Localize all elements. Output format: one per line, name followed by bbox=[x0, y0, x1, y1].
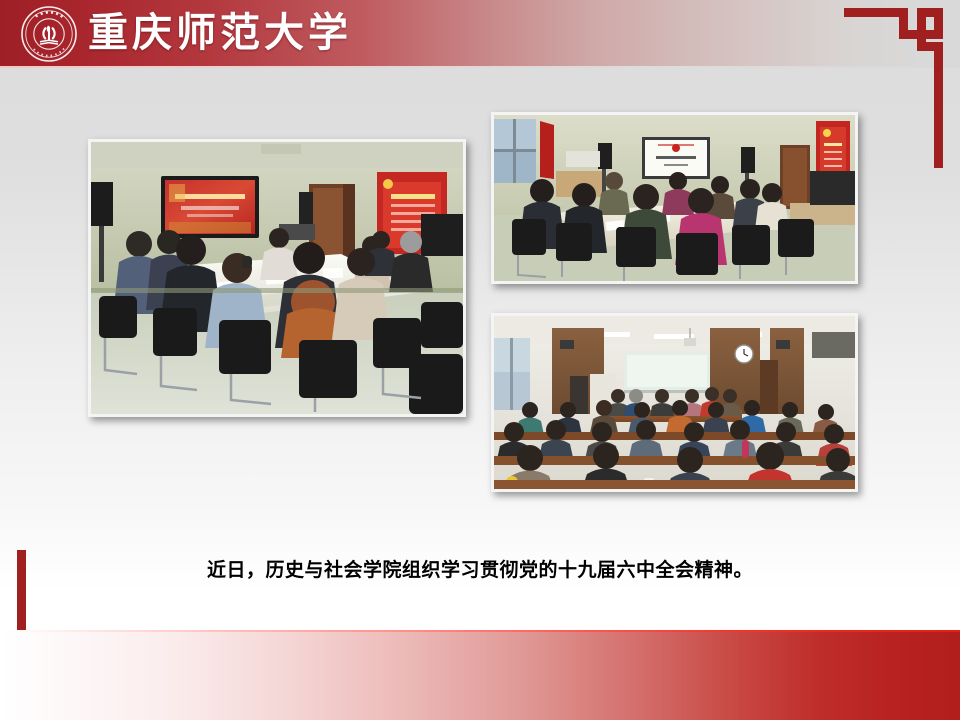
caption-area: 近日，历史与社会学院组织学习贯彻党的十九届六中全会精神。 bbox=[0, 548, 960, 592]
photo-content bbox=[91, 142, 463, 414]
university-name: 重庆师范大学 bbox=[88, 4, 352, 62]
photo-meeting-room-1[interactable] bbox=[88, 139, 466, 417]
university-seal-icon bbox=[21, 6, 77, 62]
photo-content bbox=[494, 115, 855, 281]
bottom-band bbox=[0, 632, 960, 720]
corner-ornament-top-right-icon bbox=[844, 8, 952, 188]
presentation-slide: 重庆师范大学 bbox=[0, 0, 960, 720]
header-underline bbox=[0, 66, 960, 68]
photo-lecture-hall[interactable] bbox=[491, 313, 858, 492]
photo-meeting-room-2[interactable] bbox=[491, 112, 858, 284]
photo-content bbox=[494, 316, 855, 489]
caption-text: 近日，历史与社会学院组织学习贯彻党的十九届六中全会精神。 bbox=[207, 548, 753, 592]
